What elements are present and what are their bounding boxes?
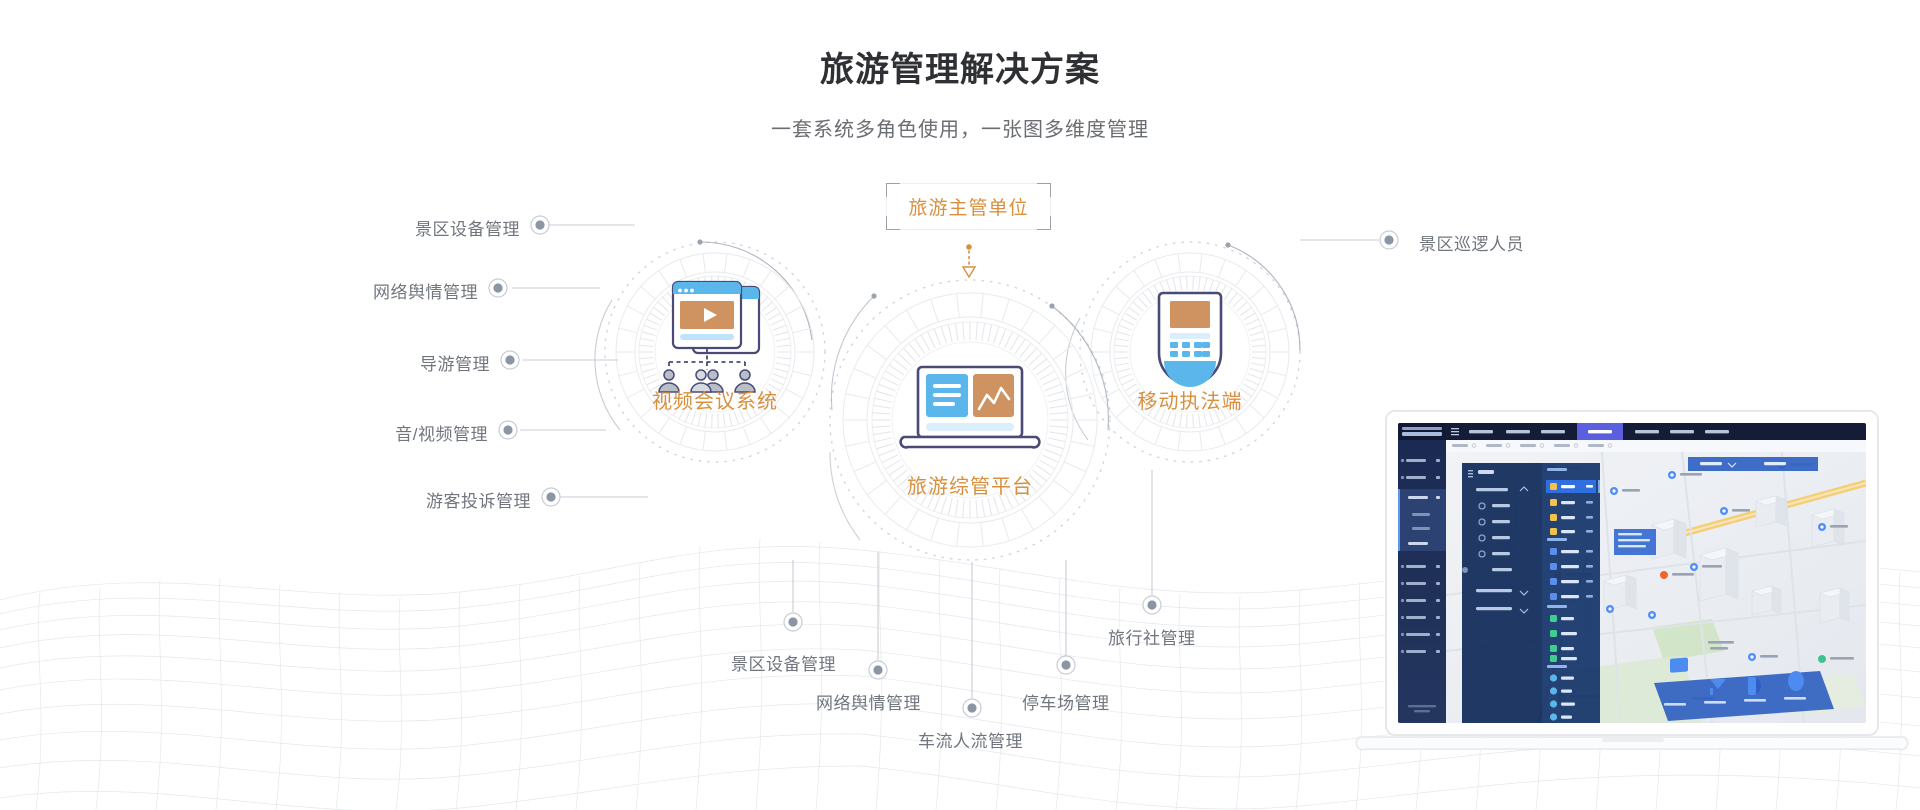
spoke-label-left-2: 网络舆情管理 (278, 278, 478, 303)
dashboard-sidebar[interactable] (1398, 440, 1446, 723)
authority-label: 旅游主管单位 (908, 193, 1028, 220)
node-label-mobile-enforcement: 移动执法端 (1090, 385, 1290, 414)
left-spoke-lines (512, 225, 648, 497)
spoke-label-left-3: 导游管理 (290, 350, 490, 375)
bottom-spoke-lines (793, 470, 1152, 698)
spoke-label-right-1: 景区巡逻人员 (1419, 230, 1524, 255)
left-spoke-dots (489, 216, 560, 506)
corner-top-right (1037, 183, 1051, 197)
map-controls[interactable] (1688, 457, 1818, 471)
right-spoke-dots (1380, 231, 1398, 249)
dashboard-layer-panel[interactable] (1542, 463, 1600, 723)
spoke-label-bottom-5: 旅行社管理 (1108, 624, 1196, 649)
spoke-label-left-1: 景区设备管理 (320, 215, 520, 240)
authority-connector (963, 244, 975, 277)
spoke-label-bottom-4: 停车场管理 (1022, 689, 1110, 714)
corner-bottom-left (886, 216, 900, 230)
spoke-label-left-5: 游客投诉管理 (331, 487, 531, 512)
corner-bottom-right (1037, 216, 1051, 230)
spoke-label-bottom-3: 车流人流管理 (918, 727, 1023, 752)
mobile-enforcement-icon (1159, 293, 1221, 387)
spoke-label-bottom-1: 景区设备管理 (731, 650, 836, 675)
spoke-label-bottom-2: 网络舆情管理 (816, 689, 921, 714)
laptop-dashboard-icon (901, 367, 1040, 447)
dashboard-tabbar[interactable] (1446, 440, 1866, 452)
laptop-screen (1398, 423, 1866, 723)
spoke-label-left-4: 音/视频管理 (288, 420, 488, 445)
dashboard-topnav[interactable] (1398, 423, 1866, 440)
map-tooltip (1614, 529, 1656, 555)
node-label-video-conference: 视频会议系统 (615, 385, 815, 414)
corner-top-left (886, 183, 900, 197)
video-conference-icon (659, 282, 759, 392)
hamburger-icon[interactable] (1451, 428, 1459, 435)
authority-box: 旅游主管单位 (886, 183, 1051, 230)
dashboard-tree-panel[interactable] (1462, 463, 1542, 723)
laptop-mockup (1352, 405, 1912, 785)
node-label-tourism-platform: 旅游综管平台 (870, 470, 1070, 499)
solution-overview-poster: 旅游管理解决方案 一套系统多角色使用，一张图多维度管理 (0, 0, 1920, 810)
